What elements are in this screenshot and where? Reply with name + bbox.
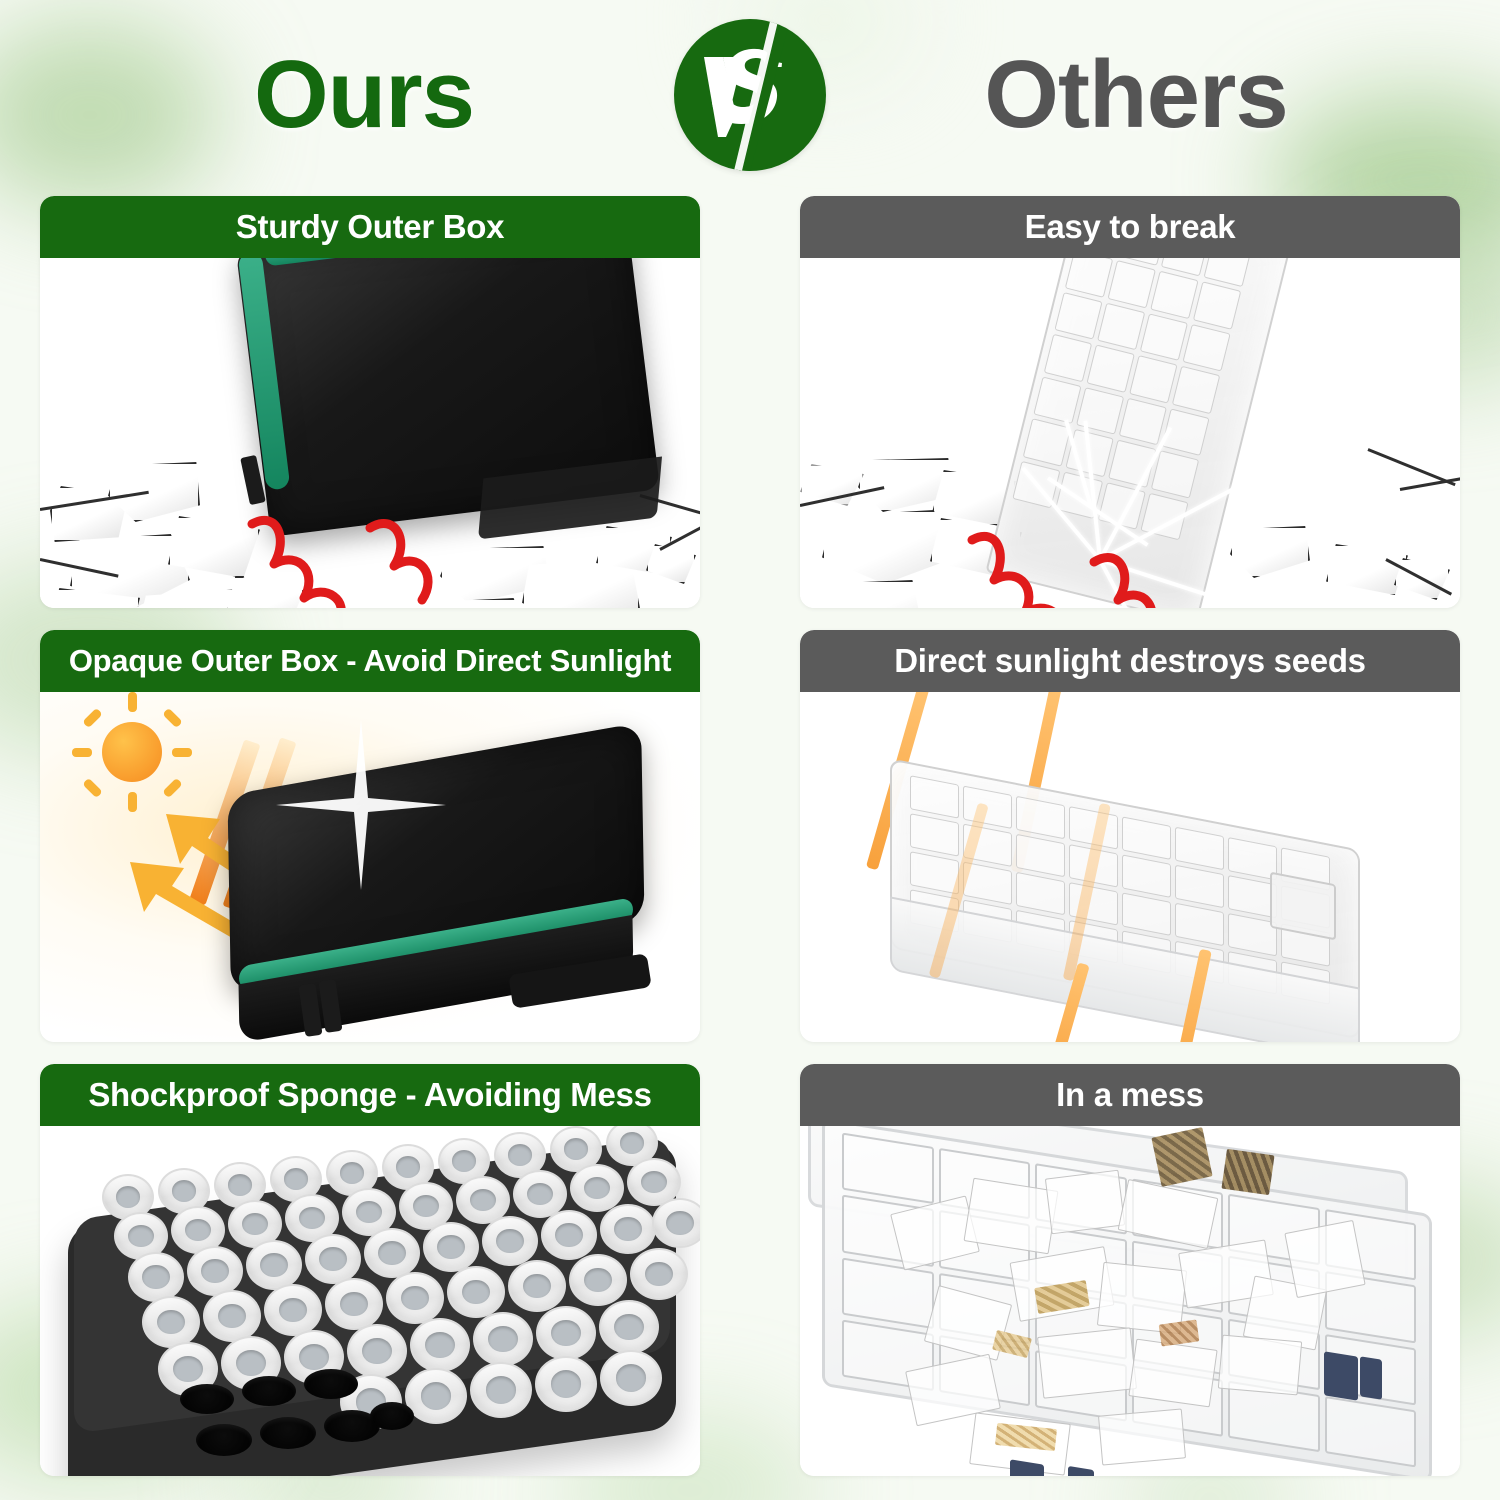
latch-icon bbox=[1360, 1356, 1382, 1399]
panel-image-others-row2 bbox=[800, 692, 1460, 1042]
vs-badge-icon bbox=[674, 19, 826, 171]
sparkle-icon bbox=[276, 720, 446, 890]
panel-others-in-a-mess: In a mess bbox=[800, 1064, 1460, 1476]
cracked-wall-icon bbox=[40, 258, 700, 608]
vs-badge-glyph bbox=[674, 19, 826, 171]
latch-icon bbox=[1324, 1351, 1358, 1400]
others-title: Others bbox=[826, 47, 1446, 143]
ours-title: Ours bbox=[54, 47, 674, 143]
comparison-grid: Sturdy Outer Box bbox=[40, 196, 1460, 1476]
panel-title-others-row3: In a mess bbox=[800, 1064, 1460, 1126]
panel-image-others-row1 bbox=[800, 258, 1460, 608]
panel-others-easy-to-break: Easy to break bbox=[800, 196, 1460, 608]
comparison-title-row: Ours Others bbox=[0, 0, 1500, 190]
panel-others-direct-sunlight: Direct sunlight destroys seeds bbox=[800, 630, 1460, 1042]
cracked-wall-icon bbox=[800, 258, 1460, 608]
panel-image-ours-row2 bbox=[40, 692, 700, 1042]
panel-ours-opaque-outer-box: Opaque Outer Box - Avoid Direct Sunlight bbox=[40, 630, 700, 1042]
panel-title-ours-row3: Shockproof Sponge - Avoiding Mess bbox=[40, 1064, 700, 1126]
panel-title-ours-row1: Sturdy Outer Box bbox=[40, 196, 700, 258]
panel-title-ours-row2: Opaque Outer Box - Avoid Direct Sunlight bbox=[40, 630, 700, 692]
panel-title-others-row2: Direct sunlight destroys seeds bbox=[800, 630, 1460, 692]
impact-burst-icon bbox=[946, 488, 1226, 608]
comparison-infographic: Ours Others Sturdy Outer Box bbox=[0, 0, 1500, 1500]
panel-image-ours-row3 bbox=[40, 1126, 700, 1476]
panel-title-others-row1: Easy to break bbox=[800, 196, 1460, 258]
impact-burst-icon bbox=[230, 470, 520, 608]
panel-image-ours-row1 bbox=[40, 258, 700, 608]
panel-image-others-row3 bbox=[800, 1126, 1460, 1476]
panel-ours-sturdy-outer-box: Sturdy Outer Box bbox=[40, 196, 700, 608]
panel-ours-shockproof-sponge: Shockproof Sponge - Avoiding Mess bbox=[40, 1064, 700, 1476]
latch-icon bbox=[1068, 1466, 1094, 1476]
